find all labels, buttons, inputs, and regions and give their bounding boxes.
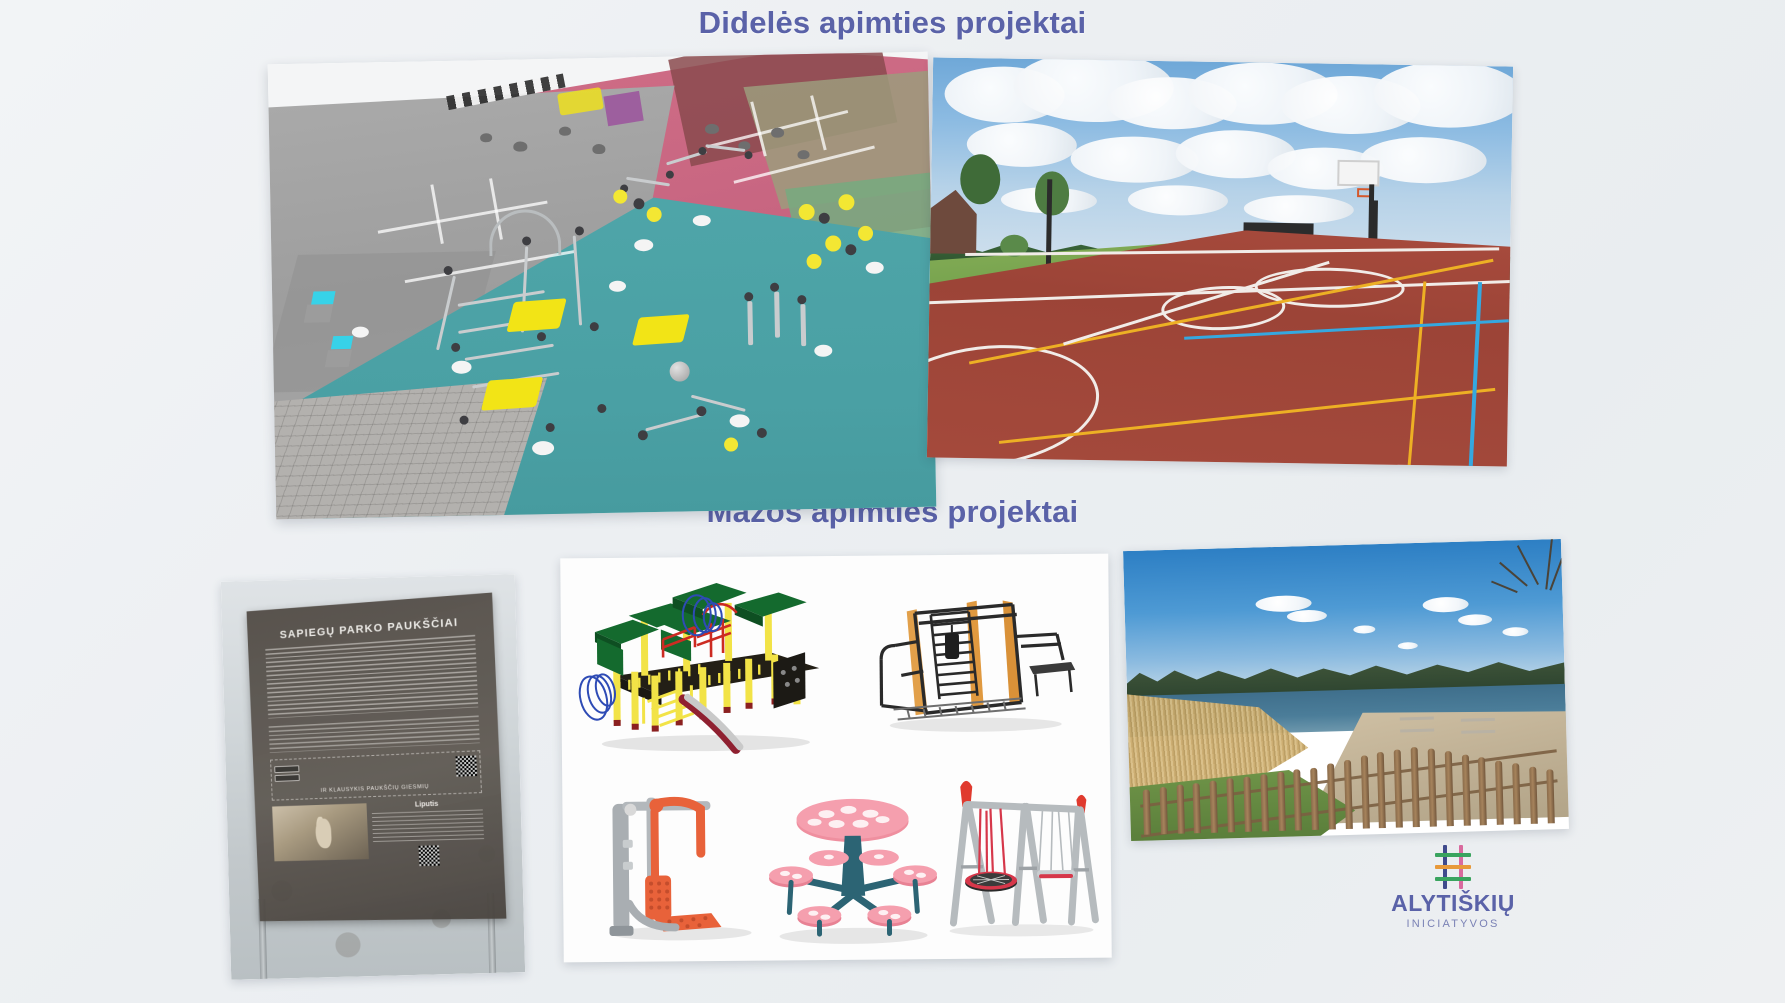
fence-pale (1512, 764, 1521, 825)
render-joint (545, 423, 554, 432)
render-trampoline (506, 298, 566, 332)
fence-pale (1176, 785, 1184, 834)
render-joint (757, 428, 767, 438)
fence-pale (1377, 752, 1386, 829)
logo-subtitle: INICIATYVOS (1406, 919, 1499, 930)
logo-wordmark: ALYTIŠKIŲ (1391, 892, 1515, 915)
bird-photo (271, 803, 368, 861)
render-pole (800, 304, 806, 346)
fence-pale (1394, 749, 1403, 827)
render-joint (770, 282, 779, 291)
render-disc (609, 280, 626, 291)
fence-pale (1210, 781, 1218, 833)
render-rock (797, 150, 809, 159)
render-sphere-grey (669, 361, 689, 381)
render-joint (537, 332, 546, 341)
fence-pale (1360, 756, 1369, 829)
render-joint (574, 227, 583, 236)
render-rock (705, 124, 719, 134)
render-pole (748, 301, 754, 345)
render-trampoline (632, 314, 690, 346)
render-grey-block (304, 304, 333, 323)
fence-pale (1260, 774, 1269, 832)
board-credits-text (268, 715, 480, 752)
render-joint (443, 266, 452, 275)
board-app-row (273, 755, 477, 783)
fence-pale (1495, 760, 1504, 825)
render-cyan-block (331, 336, 354, 349)
render-joint (589, 322, 598, 331)
bird-name: Liputis (371, 799, 483, 810)
board-bird-section: Liputis (271, 799, 485, 869)
render-purple-block (603, 91, 643, 126)
logo-rail-middle (1435, 865, 1471, 869)
organisation-logo: ALYTIŠKIŲ INICIATYVOS (1373, 844, 1533, 952)
calisthenics-rig-render (870, 578, 1081, 740)
page-title-large-projects: Didelės apimties projektai (0, 5, 1785, 41)
bird-description-text (371, 809, 484, 843)
fence-pale (1159, 787, 1167, 834)
playground-equipment-sheet-image (560, 554, 1112, 963)
fence-pale (1143, 789, 1151, 834)
cloud (1397, 642, 1417, 650)
fence-pale (1461, 754, 1470, 825)
fence-pale (1193, 783, 1201, 834)
fence-pale (1411, 747, 1420, 827)
render-trampoline (481, 376, 543, 410)
render-rock (513, 141, 527, 151)
render-joint (797, 295, 806, 304)
render-pole (774, 291, 780, 337)
leg-press-trainer-render (588, 767, 780, 945)
twig (1499, 562, 1528, 587)
play-structure-render (574, 570, 838, 758)
fence-pale (1428, 748, 1437, 826)
logo-rail-top (1435, 853, 1471, 857)
fence-pale (1344, 760, 1353, 830)
app-store-badge-icon (274, 774, 299, 782)
fence-pale (1226, 778, 1235, 832)
render-joint (666, 170, 674, 178)
lake-beach-photo-image (1123, 539, 1569, 841)
render-yellow-ball (838, 194, 854, 210)
qr-code-icon (455, 755, 477, 776)
qr-code-icon (418, 845, 439, 866)
render-joint (459, 415, 468, 424)
logo-rail-bottom (1435, 877, 1471, 881)
fence-pale (1243, 776, 1252, 832)
fence-pale (1310, 767, 1319, 830)
tree (1035, 171, 1070, 216)
fence-pale (1546, 770, 1555, 824)
information-board-photo-image: SAPIEGŲ PARKO PAUKŠČIAI IR KLAUSYKIS PAU… (221, 574, 525, 980)
swing-set-render (938, 770, 1103, 941)
playground-3d-render-image (268, 52, 937, 520)
ladder-logo-icon (1430, 844, 1476, 890)
picnic-table-render (752, 785, 953, 947)
render-rock (480, 133, 492, 142)
bare-tree (1447, 539, 1555, 652)
board-subtitle: IR KLAUSYKIS PAUKŠČIŲ GIESMIŲ (274, 782, 477, 796)
render-joint (744, 292, 753, 301)
basketball-backboard (1337, 160, 1379, 187)
fence-pale (1327, 763, 1336, 829)
board-body-text (264, 634, 478, 718)
render-rock (771, 127, 784, 137)
twig (1491, 581, 1518, 594)
render-cyan-block (310, 291, 335, 305)
google-play-badge-icon (273, 765, 298, 773)
basketball-court-photo-image (927, 57, 1513, 466)
fence-pale (1277, 772, 1286, 831)
fence-pale (1294, 770, 1303, 831)
render-grey-block (325, 349, 352, 367)
board-panel: SAPIEGŲ PARKO PAUKŠČIAI IR KLAUSYKIS PAU… (246, 592, 506, 921)
board-app-box: IR KLAUSYKIS PAUKŠČIŲ GIESMIŲ (269, 750, 482, 801)
render-yellow-ball (806, 254, 821, 269)
fence-pale (1478, 757, 1487, 825)
render-joint (745, 151, 753, 159)
lake-wooden-fence (1137, 736, 1560, 835)
fence-pale (1529, 767, 1538, 825)
